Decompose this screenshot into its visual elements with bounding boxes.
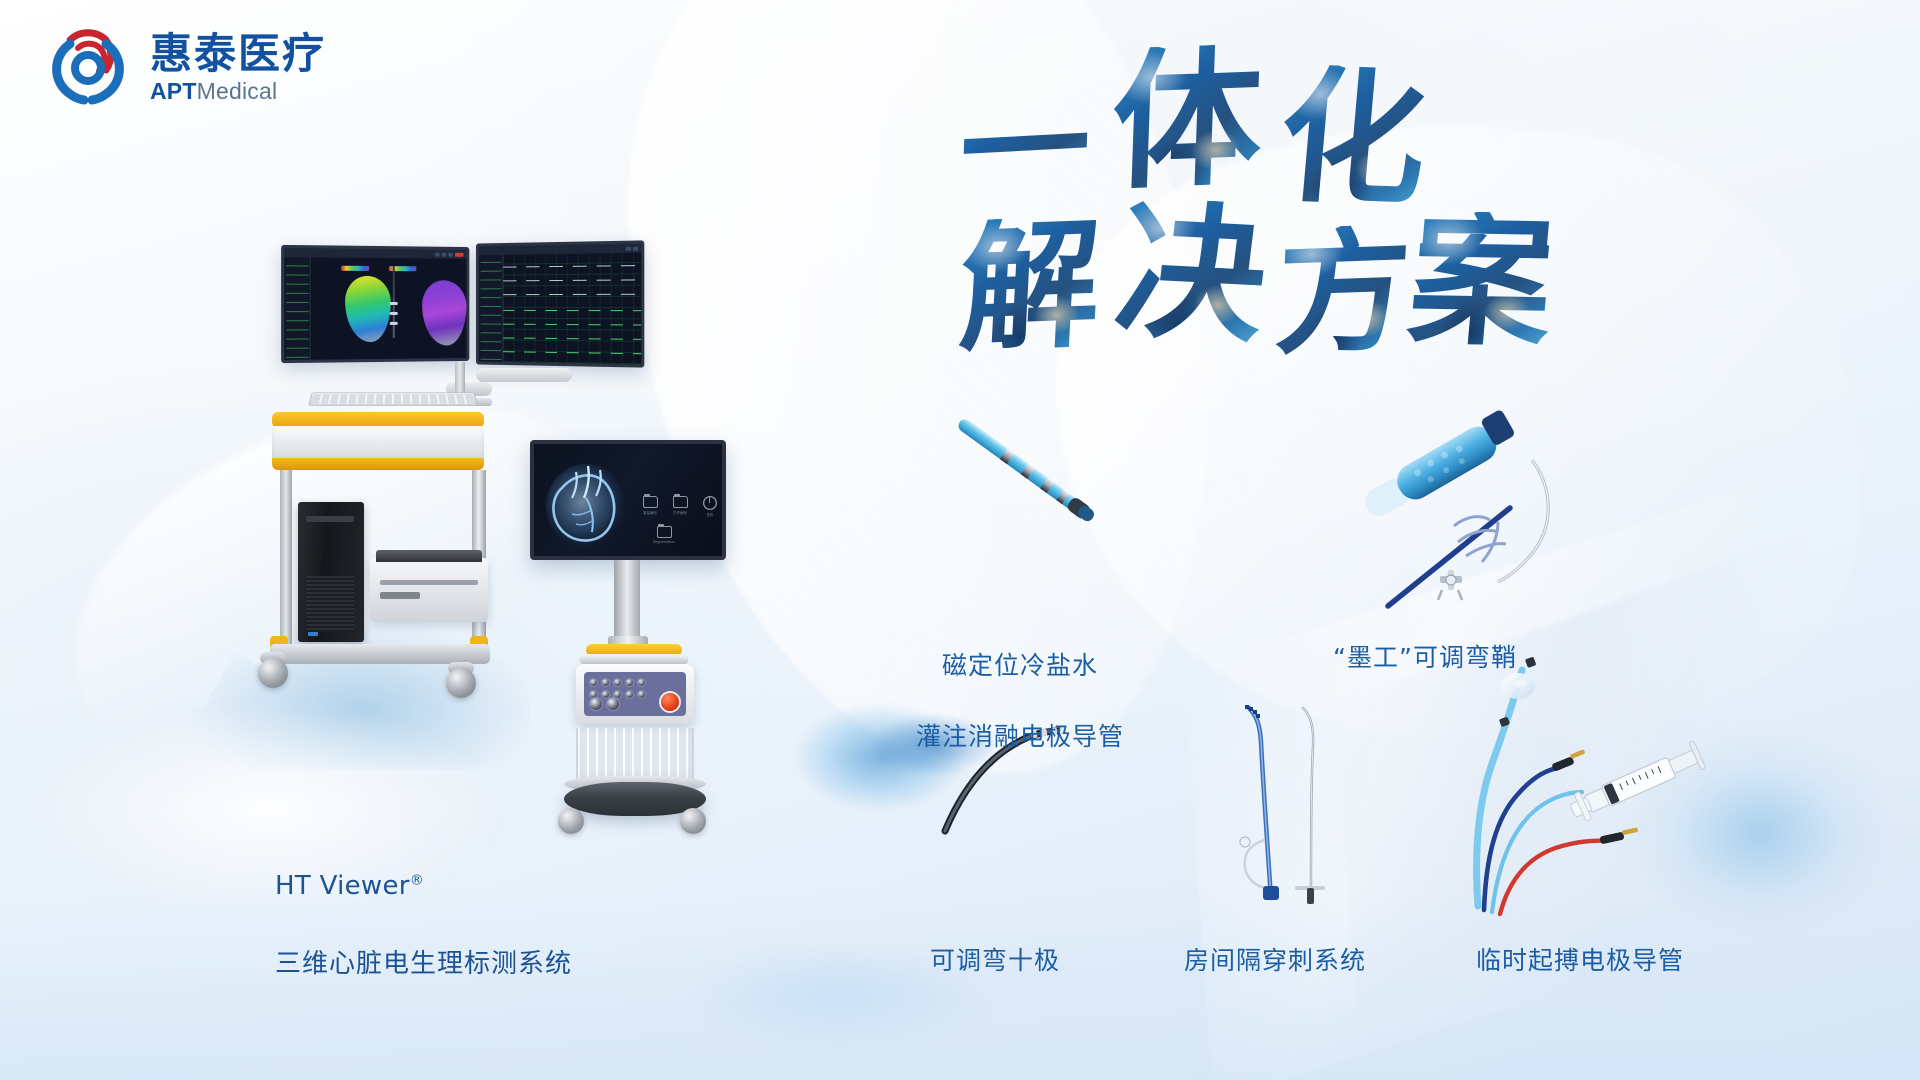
heart-mesh-voltage-map: [422, 280, 466, 345]
toolbar-btn: [633, 246, 638, 250]
cart-caster-wheel: [680, 808, 706, 834]
ecg-trace: [503, 324, 641, 326]
icon-caption: 关机: [707, 512, 714, 517]
catheter-electrode: [390, 322, 398, 325]
printer-paper-slot: [380, 580, 478, 585]
display-icon-row: 新建病例 打开病例 关机: [642, 496, 718, 518]
printer-control-panel[interactable]: [380, 592, 420, 599]
headline-char-2: 体: [1109, 43, 1264, 199]
headline-char-6: 方: [1273, 223, 1414, 362]
system-name-en-text: HT Viewer: [275, 871, 410, 901]
apt-medical-rings-icon: [40, 18, 136, 114]
workstation-pc-tower: [298, 502, 364, 642]
ecg-trace: [503, 279, 641, 281]
folder-plus-glyph: [643, 496, 658, 508]
heart-mesh-activation-map: [345, 276, 391, 342]
ecg-channel-list: [479, 255, 503, 362]
connector-row-top: [590, 679, 645, 686]
record-indicator: [455, 252, 464, 256]
product-label-pacing-catheter: 临时起搏电极导管: [1440, 943, 1720, 979]
cart-drawer-trim: [272, 458, 484, 470]
segmentation-icon[interactable]: Segmentation: [656, 526, 672, 548]
mapping-canvas: [311, 257, 467, 359]
sidebar-ecg-traces: [286, 261, 308, 358]
glowing-heart-graphic: [542, 454, 630, 550]
ground-port[interactable]: [590, 698, 602, 710]
connector-port[interactable]: [590, 691, 597, 698]
ecg-trace: [503, 351, 641, 354]
catheter-electrode: [390, 302, 398, 305]
headline-char-5: 决: [1109, 196, 1275, 351]
monitor-signal-sidebar: [284, 257, 311, 360]
display-cart-shelf: [580, 654, 688, 664]
trademark-symbol: ®: [410, 872, 424, 888]
ecg-trace: [503, 310, 641, 311]
brand-name-en-apt: APT: [150, 78, 197, 104]
connector-port[interactable]: [638, 679, 645, 686]
catheter-electrode: [390, 312, 398, 315]
electrophysiology-generator: [576, 664, 694, 724]
heart-visualization-display[interactable]: 新建病例 打开病例 关机 Segmentation: [530, 440, 726, 560]
connector-port[interactable]: [602, 691, 609, 698]
ecg-trace: [503, 294, 641, 295]
product-label-steerable-sheath: “墨工”可调弯鞘: [1275, 640, 1575, 676]
connector-row-bottom: [590, 698, 619, 710]
brand-name-en: APTMedical: [150, 79, 326, 104]
ecg-trace: [503, 337, 641, 339]
mogong-steerable-sheath-image: [1380, 430, 1670, 620]
workstation-keyboard[interactable]: [308, 392, 478, 406]
emergency-stop-button[interactable]: [661, 693, 679, 711]
cart-caster-wheel: [258, 658, 288, 688]
folder-glyph: [673, 496, 688, 508]
system-label: HT Viewer® 三维心脏电生理标测系统: [275, 828, 605, 1023]
system-name-en: HT Viewer®: [275, 867, 605, 906]
mapping-monitor: [281, 245, 469, 363]
icon-caption: Segmentation: [653, 540, 675, 544]
brand-name-cn: 惠泰医疗: [150, 32, 326, 76]
product-label-transseptal: 房间隔穿刺系统: [1150, 943, 1400, 979]
printer-lid: [376, 550, 482, 562]
poster-canvas: 惠泰医疗 APTMedical 一 体 化 解 决 方 案: [0, 0, 1920, 1080]
product-label-decapolar: 可调弯十极: [885, 943, 1105, 979]
icon-caption: 新建病例: [643, 510, 657, 515]
connector-port[interactable]: [626, 679, 633, 686]
magnetic-irrigated-ablation-catheter-image: [955, 415, 1145, 540]
cpu-badge: [308, 629, 318, 636]
brand-logo[interactable]: 惠泰医疗 APTMedical: [40, 18, 326, 114]
channel-labels: [481, 259, 502, 360]
headline-char-1: 一: [958, 80, 1092, 217]
new-case-folder-icon[interactable]: 新建病例: [642, 496, 658, 518]
toolbar-btn: [448, 252, 453, 256]
ecg-trace: [503, 265, 641, 268]
product-label-line-1: 磁定位冷盐水: [845, 648, 1195, 684]
toolbar-btn: [442, 252, 447, 256]
transseptal-puncture-system-image: [1215, 690, 1345, 900]
temporary-pacing-electrode-catheter-image: [1470, 650, 1750, 910]
open-case-folder-icon[interactable]: 打开病例: [672, 496, 688, 518]
sheath-hemostasis-valve: [1438, 570, 1462, 600]
cart-base-platform: [270, 644, 490, 664]
connector-port[interactable]: [638, 691, 645, 698]
icon-caption: 打开病例: [673, 510, 687, 515]
connector-row-middle: [590, 691, 645, 698]
connector-port[interactable]: [614, 679, 621, 686]
connector-port[interactable]: [626, 691, 633, 698]
cart-drawer[interactable]: [272, 426, 484, 462]
power-glyph: [703, 496, 717, 510]
system-name-cn: 三维心脏电生理标测系统: [275, 945, 605, 984]
brand-name-en-medical: Medical: [197, 78, 278, 104]
voltage-colorbar-left: [341, 266, 369, 271]
connector-port[interactable]: [590, 679, 597, 686]
ecg-monitor: [476, 240, 644, 367]
toolbar-btn: [435, 252, 440, 256]
cart-left-post: [280, 470, 292, 650]
segmentation-glyph: [657, 526, 672, 538]
cart-caster-wheel: [446, 668, 476, 698]
product-label-ablation-catheter: 磁定位冷盐水 灌注消融电极导管: [845, 612, 1195, 790]
product-label-line-2: 灌注消融电极导管: [845, 719, 1195, 755]
power-icon[interactable]: 关机: [702, 496, 718, 518]
ecg-waveform-grid: [503, 253, 641, 365]
connector-port[interactable]: [602, 679, 609, 686]
report-printer: [370, 558, 488, 622]
heart-display-cart: 新建病例 打开病例 关机 Segmentation: [530, 440, 760, 860]
headline-char-3: 化: [1274, 64, 1433, 215]
generator-front-panel[interactable]: [584, 672, 686, 716]
headline-calligraphy: 一 体 化 解 决 方 案: [960, 40, 1640, 340]
monitor-swing-arm: [476, 368, 572, 382]
connector-port[interactable]: [614, 691, 621, 698]
headline-char-4: 解: [956, 215, 1103, 360]
coaxial-port[interactable]: [607, 698, 619, 710]
toolbar-btn: [626, 246, 631, 250]
headline-char-7: 案: [1404, 211, 1558, 355]
